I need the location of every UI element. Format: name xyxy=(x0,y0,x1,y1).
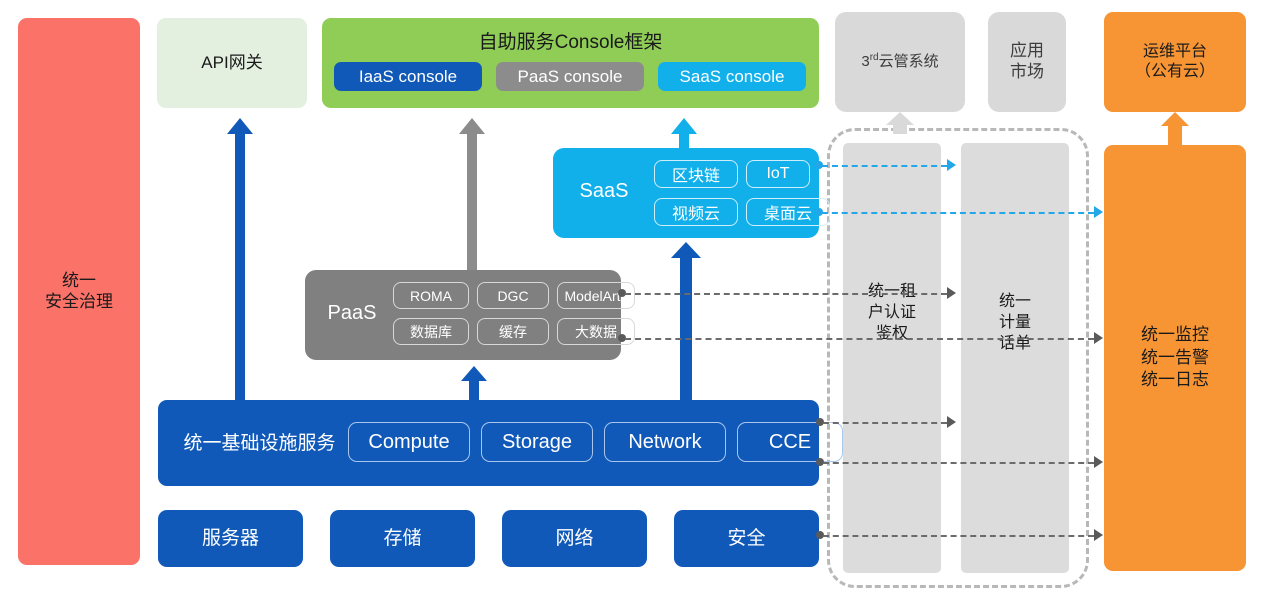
saas-block: SaaS 区块链 IoT 视频云 桌面云 xyxy=(553,148,819,238)
arrow-saas-to-console xyxy=(670,118,698,150)
unified-metering-label: 统一 计量 话单 xyxy=(961,291,1069,354)
saas-block-title: SaaS xyxy=(563,180,645,203)
arrow-paas-to-console xyxy=(458,118,486,270)
connector-arrowhead-paas-auth xyxy=(947,287,956,299)
paas-console-label: PaaS console xyxy=(518,68,623,85)
ops-platform-label: 运维平台 （公有云） xyxy=(1135,42,1215,81)
paas-tag-cache[interactable]: 缓存 xyxy=(477,318,549,345)
iaas-tag-cce[interactable]: CCE xyxy=(737,422,843,462)
arrow-iaas-to-paas xyxy=(460,366,488,402)
ops-platform-public-cloud-box: 运维平台 （公有云） xyxy=(1104,12,1246,112)
resource-box-network-label: 网络 xyxy=(555,527,593,550)
third-party-cloud-management-box: 3rd云管系统 xyxy=(835,12,965,112)
resource-box-server-label: 服务器 xyxy=(202,527,259,550)
connector-iaas-to-auth xyxy=(823,422,947,424)
arrow-to-ops-platform xyxy=(1161,112,1189,146)
unified-security-governance-panel: 统一 安全治理 xyxy=(18,18,140,565)
paas-block-title: PaaS xyxy=(313,302,391,325)
connector-paas-to-auth xyxy=(625,293,947,295)
connector-arrowhead-resources-ops xyxy=(1094,529,1103,541)
connector-arrowhead-saas-auth xyxy=(947,159,956,171)
paas-tag-database[interactable]: 数据库 xyxy=(393,318,469,345)
unified-tenant-auth-label: 统一租 户认证 鉴权 xyxy=(843,281,941,344)
unified-monitoring-label: 统一监控 统一告警 统一日志 xyxy=(1141,324,1209,393)
connector-arrowhead-saas-ops xyxy=(1094,206,1103,218)
connector-arrowhead-iaas-auth xyxy=(947,416,956,428)
saas-tag-iot[interactable]: IoT xyxy=(746,160,810,188)
connector-paas-to-ops xyxy=(625,338,1094,340)
unified-infrastructure-service-bar: 统一基础设施服务 Compute Storage Network CCE xyxy=(158,400,819,486)
iaas-tag-network[interactable]: Network xyxy=(604,422,726,462)
paas-tag-roma[interactable]: ROMA xyxy=(393,282,469,309)
saas-console-pill[interactable]: SaaS console xyxy=(658,62,806,91)
arrow-iaas-to-saas xyxy=(672,242,700,402)
arrow-to-third-party-cloud xyxy=(886,112,914,134)
arrow-iaas-to-api-gateway xyxy=(226,118,254,400)
iaas-tag-storage[interactable]: Storage xyxy=(481,422,593,462)
console-frame-title: 自助服务Console框架 xyxy=(322,27,819,54)
saas-console-label: SaaS console xyxy=(680,68,785,85)
resource-box-network[interactable]: 网络 xyxy=(502,510,647,567)
connector-arrowhead-iaas-ops xyxy=(1094,456,1103,468)
saas-tag-blockchain[interactable]: 区块链 xyxy=(654,160,738,188)
connector-arrowhead-paas-ops xyxy=(1094,332,1103,344)
connector-iaas-to-ops xyxy=(823,462,1094,464)
connector-saas-to-ops xyxy=(822,212,1094,214)
api-gateway-box: API网关 xyxy=(157,18,307,108)
paas-console-pill[interactable]: PaaS console xyxy=(496,62,644,91)
resource-box-storage[interactable]: 存储 xyxy=(330,510,475,567)
self-service-console-frame: 自助服务Console框架 IaaS console PaaS console … xyxy=(322,18,819,108)
app-market-label: 应用 市场 xyxy=(1010,41,1044,82)
paas-tag-dgc[interactable]: DGC xyxy=(477,282,549,309)
app-market-box: 应用 市场 xyxy=(988,12,1066,112)
unified-tenant-auth-column xyxy=(843,143,941,573)
resource-box-server[interactable]: 服务器 xyxy=(158,510,303,567)
architecture-diagram: 统一 安全治理 API网关 自助服务Console框架 IaaS console… xyxy=(0,0,1265,605)
unified-infrastructure-service-label: 统一基础设施服务 xyxy=(172,428,347,455)
unified-metering-column xyxy=(961,143,1069,573)
unified-monitoring-panel: 统一监控 统一告警 统一日志 xyxy=(1104,145,1246,571)
resource-box-storage-label: 存储 xyxy=(383,527,421,550)
api-gateway-label: API网关 xyxy=(201,53,262,74)
iaas-console-label: IaaS console xyxy=(359,68,457,85)
third-party-cloud-management-label: 3rd云管系统 xyxy=(861,52,938,71)
iaas-console-pill[interactable]: IaaS console xyxy=(334,62,482,91)
connector-resources-to-ops xyxy=(823,535,1094,537)
iaas-tag-compute[interactable]: Compute xyxy=(348,422,470,462)
resource-box-security[interactable]: 安全 xyxy=(674,510,819,567)
saas-tag-video-cloud[interactable]: 视频云 xyxy=(654,198,738,226)
paas-block: PaaS ROMA DGC ModelArts 数据库 缓存 大数据 xyxy=(305,270,621,360)
resource-box-security-label: 安全 xyxy=(727,527,765,550)
unified-security-governance-label: 统一 安全治理 xyxy=(45,271,113,312)
connector-saas-to-auth xyxy=(822,165,947,167)
